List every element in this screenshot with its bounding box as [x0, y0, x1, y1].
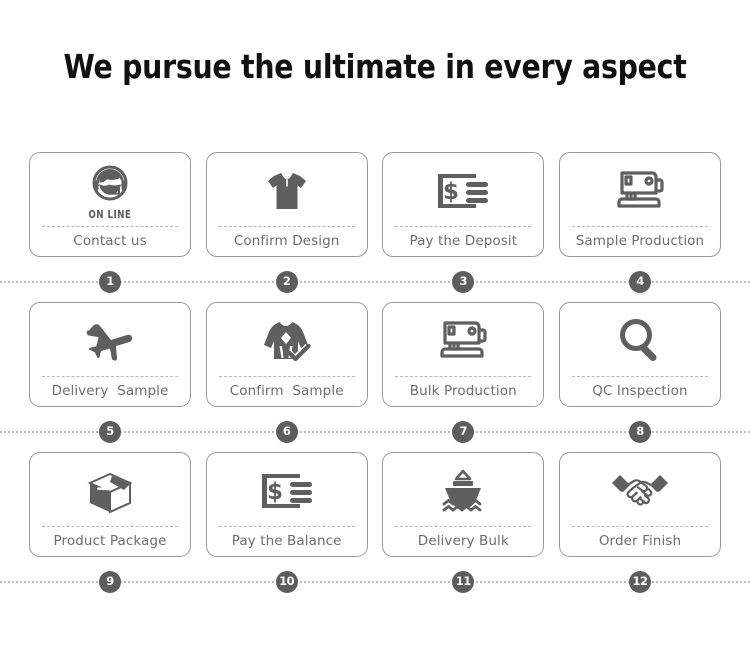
step-icon-4 — [560, 153, 720, 226]
sewing-machine-icon — [613, 167, 667, 215]
step-card-7[interactable]: Bulk Production — [382, 302, 544, 407]
step-label-2: Confirm Design — [234, 227, 340, 256]
step-badge-5: 5 — [99, 421, 121, 443]
online-caption: ON LINE — [89, 209, 132, 220]
step-label-7: Bulk Production — [410, 377, 517, 406]
step-badge-10: 10 — [276, 571, 298, 593]
step-icon-2 — [207, 153, 367, 226]
step-label-4: Sample Production — [576, 227, 704, 256]
process-flow-page: We pursue the ultimate in every aspect — [0, 0, 750, 650]
step-icon-5 — [30, 303, 190, 376]
step-label-12: Order Finish — [599, 527, 681, 556]
airplane-icon — [82, 317, 138, 365]
step-label-3: Pay the Deposit — [409, 227, 517, 256]
connector-row-2: 5 6 7 8 — [0, 420, 750, 444]
step-card-11[interactable]: Delivery Bulk — [382, 452, 544, 557]
step-card-1[interactable]: ON LINE Contact us — [29, 152, 191, 257]
svg-text:$: $ — [267, 479, 283, 505]
hoodie-check-icon — [258, 316, 316, 366]
step-label-6: Confirm Sample — [230, 377, 344, 406]
step-card-12[interactable]: Order Finish — [559, 452, 721, 557]
step-icon-12 — [560, 453, 720, 526]
step-card-10[interactable]: $ Pay the Balance — [206, 452, 368, 557]
step-label-1: Contact us — [73, 227, 146, 256]
sewing-machine-icon — [436, 317, 490, 365]
step-badge-12: 12 — [629, 571, 651, 593]
steps-grid: ON LINE Contact us — [29, 152, 721, 602]
page-title: We pursue the ultimate in every aspect — [53, 47, 698, 86]
step-label-8: QC Inspection — [592, 377, 687, 406]
step-icon-8 — [560, 303, 720, 376]
step-icon-9 — [30, 453, 190, 526]
step-badge-6: 6 — [276, 421, 298, 443]
step-icon-7 — [383, 303, 543, 376]
step-label-9: Product Package — [53, 527, 166, 556]
headset-online-icon — [84, 162, 136, 208]
step-card-2[interactable]: Confirm Design — [206, 152, 368, 257]
step-badge-1: 1 — [99, 271, 121, 293]
polo-shirt-icon — [261, 165, 313, 217]
step-icon-11 — [383, 453, 543, 526]
step-badge-11: 11 — [452, 571, 474, 593]
step-label-11: Delivery Bulk — [418, 527, 509, 556]
connector-row-1: 1 2 3 4 — [0, 270, 750, 294]
step-card-8[interactable]: QC Inspection — [559, 302, 721, 407]
step-label-10: Pay the Balance — [232, 527, 342, 556]
check-payment-icon: $ — [258, 470, 316, 512]
step-icon-6 — [207, 303, 367, 376]
svg-text:$: $ — [443, 179, 459, 205]
steps-row-3: Product Package $ — [29, 452, 721, 602]
check-payment-icon: $ — [434, 170, 492, 212]
step-badge-7: 7 — [452, 421, 474, 443]
step-card-5[interactable]: Delivery Sample — [29, 302, 191, 407]
carton-box-icon — [82, 467, 138, 515]
step-label-5: Delivery Sample — [52, 377, 169, 406]
step-badge-9: 9 — [99, 571, 121, 593]
step-badge-4: 4 — [629, 271, 651, 293]
steps-row-2: Delivery Sample — [29, 302, 721, 452]
step-icon-1: ON LINE — [30, 153, 190, 226]
step-card-4[interactable]: Sample Production — [559, 152, 721, 257]
cargo-ship-icon — [435, 467, 491, 515]
connector-row-3: 9 10 11 12 — [0, 570, 750, 594]
steps-row-1: ON LINE Contact us — [29, 152, 721, 302]
step-badge-8: 8 — [629, 421, 651, 443]
magnifier-icon — [615, 316, 665, 366]
step-badge-3: 3 — [452, 271, 474, 293]
step-icon-3: $ — [383, 153, 543, 226]
step-badge-2: 2 — [276, 271, 298, 293]
step-card-9[interactable]: Product Package — [29, 452, 191, 557]
step-icon-10: $ — [207, 453, 367, 526]
step-card-6[interactable]: Confirm Sample — [206, 302, 368, 407]
handshake-icon — [609, 469, 671, 513]
step-card-3[interactable]: $ Pay the Deposit — [382, 152, 544, 257]
